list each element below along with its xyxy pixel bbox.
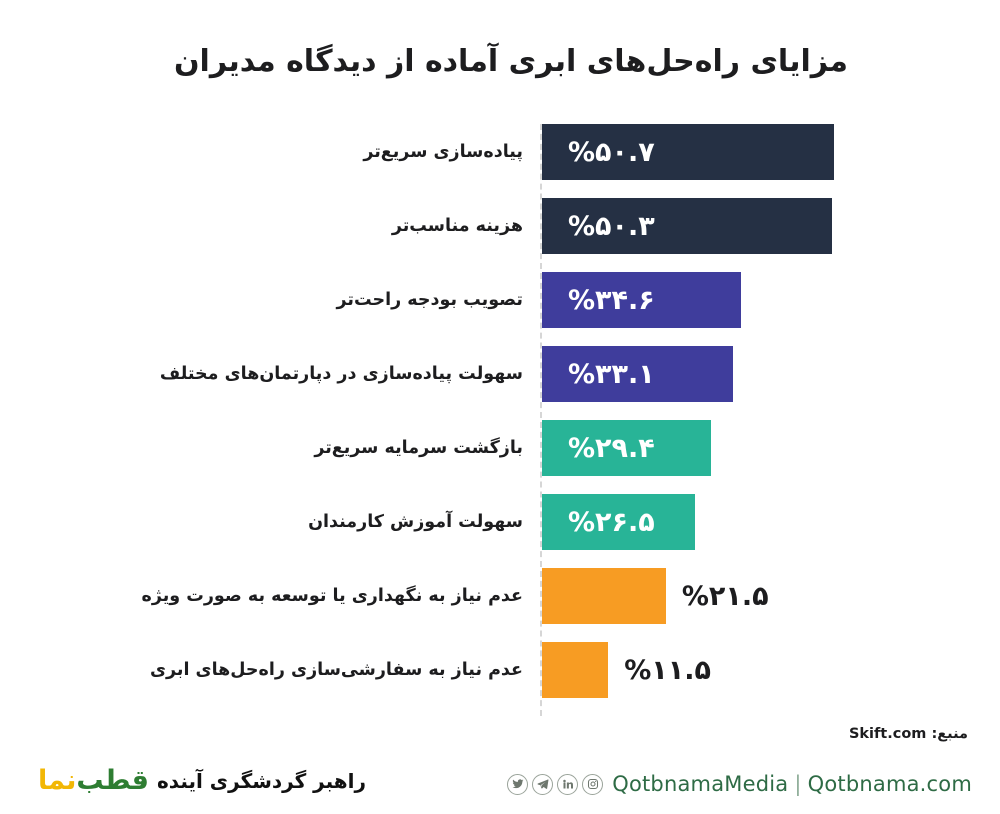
twitter-icon[interactable] bbox=[507, 774, 528, 795]
bar-value-label: %۳۴.۶ bbox=[542, 285, 655, 316]
brand-logo-part1: قطب bbox=[76, 765, 149, 796]
bar[interactable]: %۵۰.۳ bbox=[542, 198, 832, 254]
chart-row: سهولت آموزش کارمندان%۲۶.۵ bbox=[0, 494, 1000, 550]
brand-logo: قطبنما bbox=[38, 765, 149, 796]
bar-value-label: %۲۶.۵ bbox=[542, 507, 655, 538]
chart-row: سهولت پیاده‌سازی در دپارتمان‌های مختلف%۳… bbox=[0, 346, 1000, 402]
instagram-icon[interactable] bbox=[582, 774, 603, 795]
bar[interactable]: %۳۳.۱ bbox=[542, 346, 733, 402]
bar-value-label: %۲۱.۵ bbox=[682, 581, 769, 612]
chart-row: عدم نیاز به سفارشی‌سازی راه‌حل‌های ابری%… bbox=[0, 642, 1000, 698]
bar-value-label: %۲۹.۴ bbox=[542, 433, 655, 464]
chart-row: بازگشت سرمایه سریع‌تر%۲۹.۴ bbox=[0, 420, 1000, 476]
bar-value-label: %۳۳.۱ bbox=[542, 359, 655, 390]
chart-row: پیاده‌سازی سریع‌تر%۵۰.۷ bbox=[0, 124, 1000, 180]
bar-category-label: سهولت آموزش کارمندان bbox=[103, 511, 523, 534]
bar[interactable]: %۵۰.۷ bbox=[542, 124, 834, 180]
linkedin-icon[interactable] bbox=[557, 774, 578, 795]
footer-separator: | bbox=[794, 772, 801, 796]
footer-handle-media[interactable]: QotbnamaMedia bbox=[612, 772, 788, 796]
page-title: مزایای راه‌حل‌های ابری آماده از دیدگاه م… bbox=[148, 42, 848, 83]
bar[interactable]: %۱۱.۵ bbox=[542, 642, 608, 698]
bar[interactable]: %۲۶.۵ bbox=[542, 494, 695, 550]
bar[interactable]: %۲۱.۵ bbox=[542, 568, 666, 624]
bar[interactable]: %۳۴.۶ bbox=[542, 272, 741, 328]
infographic-canvas: مزایای راه‌حل‌های ابری آماده از دیدگاه م… bbox=[0, 0, 1000, 814]
telegram-icon[interactable] bbox=[532, 774, 553, 795]
footer-handle-site[interactable]: Qotbnama.com bbox=[808, 772, 972, 796]
bar-category-label: پیاده‌سازی سریع‌تر bbox=[103, 141, 523, 164]
footer-handles: QotbnamaMedia|Qotbnama.com bbox=[612, 772, 972, 796]
footer-social-block: QotbnamaMedia|Qotbnama.com bbox=[507, 772, 972, 796]
bar[interactable]: %۲۹.۴ bbox=[542, 420, 711, 476]
bar-category-label: عدم نیاز به نگهداری یا توسعه به صورت ویژ… bbox=[103, 585, 523, 608]
bar-value-label: %۵۰.۷ bbox=[542, 137, 655, 168]
chart-row: تصویب بودجه راحت‌تر%۳۴.۶ bbox=[0, 272, 1000, 328]
bar-value-label: %۱۱.۵ bbox=[624, 655, 711, 686]
bar-category-label: بازگشت سرمایه سریع‌تر bbox=[103, 437, 523, 460]
brand-tagline: راهبر گردشگری آینده bbox=[157, 769, 366, 793]
brand-logo-part2: نما bbox=[38, 765, 76, 796]
bar-category-label: تصویب بودجه راحت‌تر bbox=[103, 289, 523, 312]
bar-value-label: %۵۰.۳ bbox=[542, 211, 655, 242]
bar-category-label: هزینه مناسب‌تر bbox=[103, 215, 523, 238]
bar-chart: پیاده‌سازی سریع‌تر%۵۰.۷هزینه مناسب‌تر%۵۰… bbox=[0, 118, 1000, 723]
bar-category-label: سهولت پیاده‌سازی در دپارتمان‌های مختلف bbox=[103, 363, 523, 386]
chart-row: عدم نیاز به نگهداری یا توسعه به صورت ویژ… bbox=[0, 568, 1000, 624]
chart-row: هزینه مناسب‌تر%۵۰.۳ bbox=[0, 198, 1000, 254]
brand-block: راهبر گردشگری آینده قطبنما bbox=[38, 765, 366, 796]
social-icon-group bbox=[507, 774, 603, 795]
bar-category-label: عدم نیاز به سفارشی‌سازی راه‌حل‌های ابری bbox=[103, 659, 523, 682]
source-note: منبع: Skift.com bbox=[849, 726, 968, 742]
